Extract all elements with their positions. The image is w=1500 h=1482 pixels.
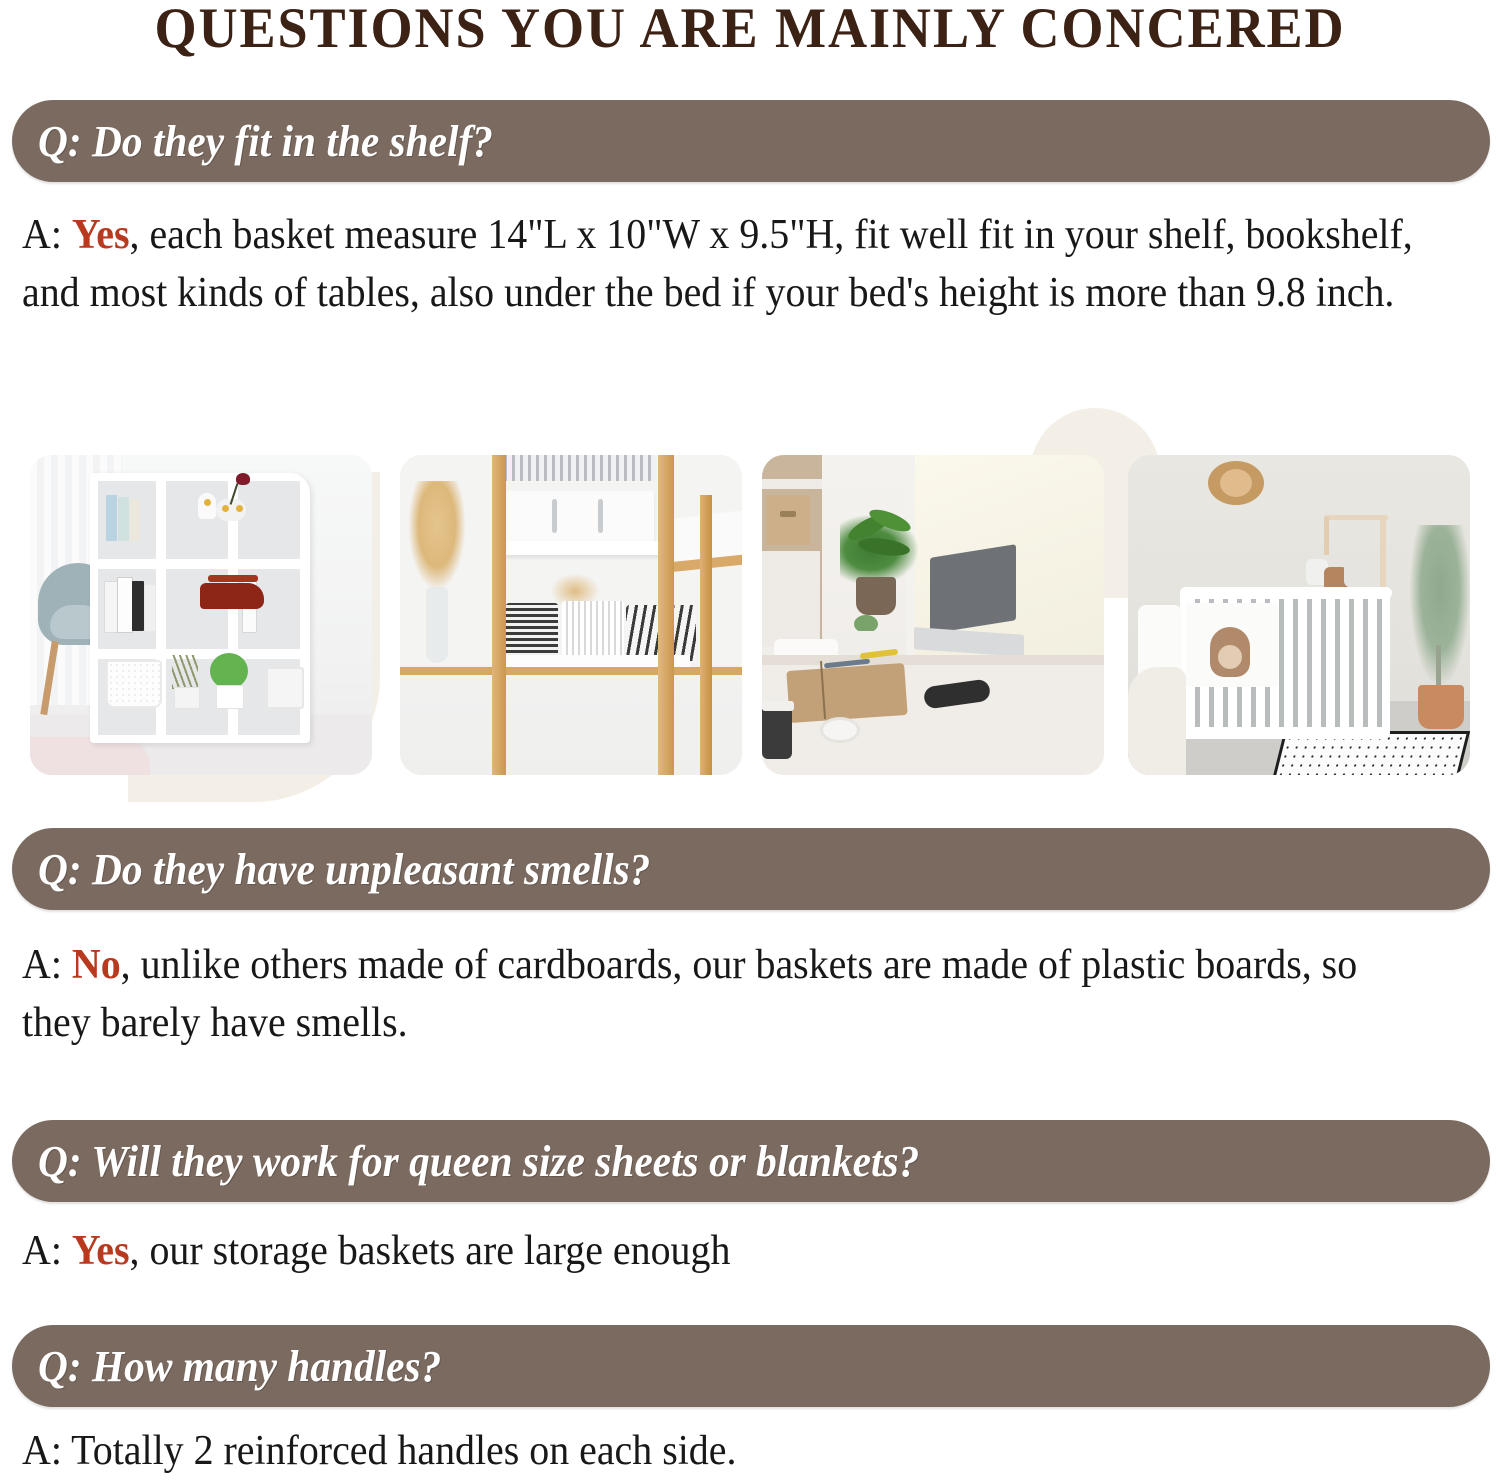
question-text-3: Q: Will they work for queen size sheets … — [38, 1136, 919, 1187]
gallery-image-4 — [1128, 455, 1470, 775]
question-banner-1[interactable]: Q: Do they fit in the shelf? — [12, 100, 1490, 182]
question-text-2: Q: Do they have unpleasant smells? — [38, 844, 650, 895]
answer-prefix-2: A: — [22, 942, 72, 988]
question-text-1: Q: Do they fit in the shelf? — [38, 116, 493, 167]
answer-highlight-2: No — [72, 942, 121, 988]
gallery-image-1 — [30, 455, 372, 775]
answer-highlight-3: Yes — [72, 1228, 130, 1274]
gallery-image-3 — [762, 455, 1104, 775]
answer-prefix-4: A: Totally 2 reinforced handles on each … — [22, 1428, 736, 1474]
answer-highlight-1: Yes — [72, 212, 130, 258]
answer-block-4: A: Totally 2 reinforced handles on each … — [22, 1422, 1419, 1480]
faq-page: QUESTIONS YOU ARE MAINLY CONCERED Q: Do … — [0, 0, 1500, 1482]
answer-prefix-3: A: — [22, 1228, 72, 1274]
question-banner-2[interactable]: Q: Do they have unpleasant smells? — [12, 828, 1490, 910]
question-banner-4[interactable]: Q: How many handles? — [12, 1325, 1490, 1407]
image-gallery — [0, 455, 1500, 785]
answer-rest-3: , our storage baskets are large enough — [130, 1228, 731, 1274]
answer-block-1: A: Yes, each basket measure 14"L x 10"W … — [22, 206, 1419, 322]
page-title: QUESTIONS YOU ARE MAINLY CONCERED — [38, 0, 1463, 61]
gallery-image-2 — [400, 455, 742, 775]
answer-block-3: A: Yes, our storage baskets are large en… — [22, 1222, 1419, 1280]
answer-rest-1: , each basket measure 14"L x 10"W x 9.5"… — [22, 212, 1413, 316]
question-text-4: Q: How many handles? — [38, 1341, 441, 1392]
answer-prefix-1: A: — [22, 212, 72, 258]
question-banner-3[interactable]: Q: Will they work for queen size sheets … — [12, 1120, 1490, 1202]
answer-block-2: A: No, unlike others made of cardboards,… — [22, 936, 1419, 1052]
answer-rest-2: , unlike others made of cardboards, our … — [22, 942, 1357, 1046]
